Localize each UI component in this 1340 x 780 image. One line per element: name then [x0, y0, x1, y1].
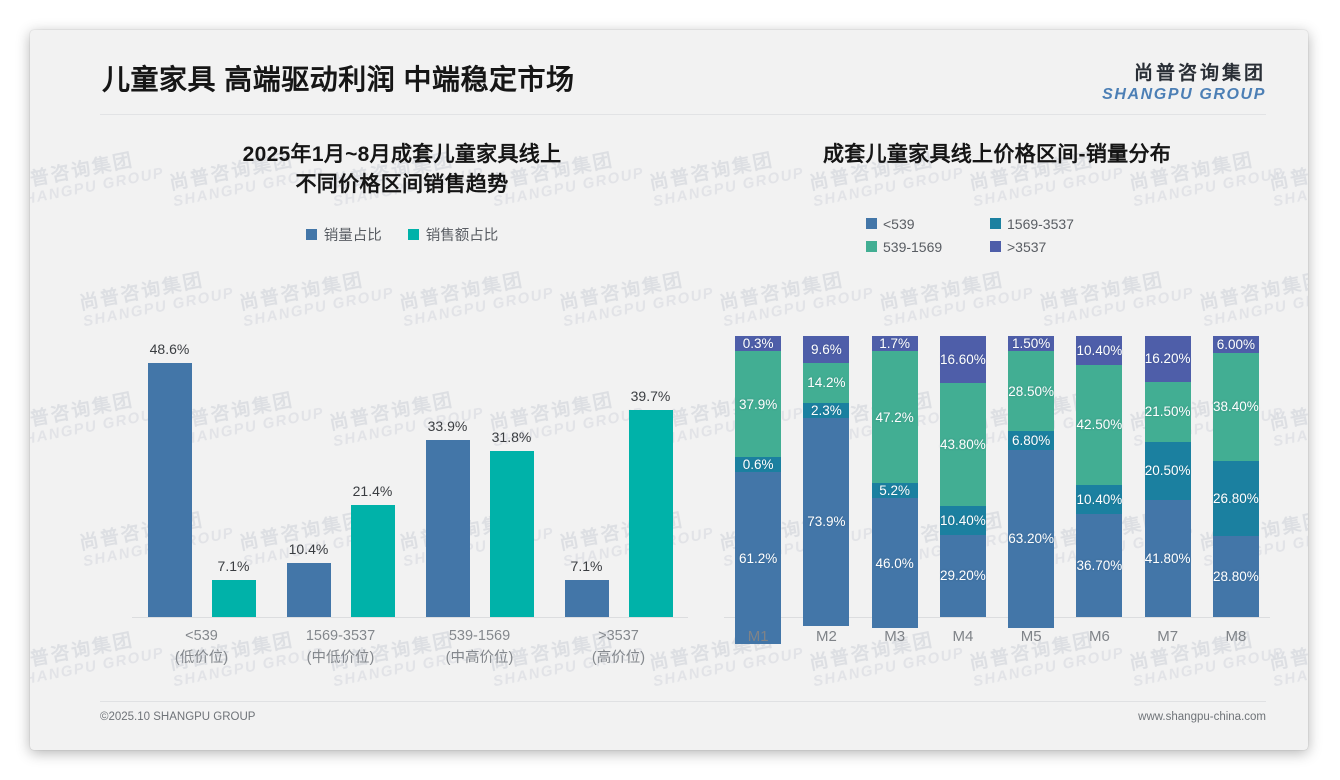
bar-group: 48.6%7.1%	[132, 330, 271, 617]
legend-swatch-icon	[306, 229, 317, 240]
stacked-bar[interactable]: 1.50%28.50%6.80%63.20%	[1008, 336, 1054, 617]
stacked-bar[interactable]: 16.60%43.80%10.40%29.20%	[940, 336, 986, 617]
x-tick-range: <539	[185, 628, 218, 644]
x-tick-tier: (高价位)	[549, 648, 688, 670]
stack-segment-mid-price-band[interactable]: 28.50%	[1008, 351, 1054, 431]
stacked-bar[interactable]: 10.40%42.50%10.40%36.70%	[1076, 336, 1122, 617]
legend-item-left-0[interactable]: 销量占比	[306, 224, 382, 245]
stack-segment-high-price-band[interactable]: 16.60%	[940, 336, 986, 383]
bar-volume-share[interactable]: 10.4%	[287, 563, 331, 617]
bar-value-label: 31.8%	[492, 429, 532, 445]
stack-segment-value-label: 0.3%	[743, 336, 774, 351]
left-chart-bar-groups: 48.6%7.1%10.4%21.4%33.9%31.8%7.1%39.7%	[132, 330, 688, 617]
x-tick-label-month: M1	[724, 620, 792, 670]
stack-segment-value-label: 41.80%	[1145, 551, 1191, 566]
slide-footer: ©2025.10 SHANGPU GROUP www.shangpu-china…	[100, 708, 1266, 732]
logo-text-cn: 尚普咨询集团	[1102, 58, 1266, 85]
bar-fill	[287, 563, 331, 617]
legend-item-right-2[interactable]: 539-1569	[866, 239, 990, 255]
stack-segment-mid-high-price-band[interactable]: 6.80%	[1008, 431, 1054, 450]
slide-header: 儿童家具 高端驱动利润 中端稳定市场 尚普咨询集团 SHANGPU GROUP	[30, 30, 1308, 116]
left-chart-panel: 2025年1月~8月成套儿童家具线上 不同价格区间销售趋势 销量占比销售额占比 …	[102, 140, 702, 720]
x-tick-tier: (中低价位)	[271, 648, 410, 670]
footer-website: www.shangpu-china.com	[1138, 711, 1266, 723]
stacked-bar[interactable]: 0.3%37.9%0.6%61.2%	[735, 336, 781, 617]
stack-segment-lowest-price-band[interactable]: 29.20%	[940, 535, 986, 617]
bar-sales-share[interactable]: 31.8%	[490, 451, 534, 617]
brand-logo: 尚普咨询集团 SHANGPU GROUP	[1102, 58, 1266, 104]
stack-segment-value-label: 9.6%	[811, 342, 842, 357]
slide-canvas: 尚普咨询集团SHANGPU GROUP尚普咨询集团SHANGPU GROUP尚普…	[30, 30, 1308, 750]
stack-segment-mid-high-price-band[interactable]: 0.6%	[735, 457, 781, 472]
legend-swatch-icon	[866, 241, 877, 252]
legend-item-right-1[interactable]: 1569-3537	[990, 216, 1128, 232]
legend-label: 销量占比	[324, 224, 382, 245]
left-chart-title-line2: 不同价格区间销售趋势	[102, 170, 702, 200]
bar-sales-share[interactable]: 39.7%	[629, 410, 673, 617]
stack-segment-mid-price-band[interactable]: 38.40%	[1213, 353, 1259, 461]
legend-swatch-icon	[990, 241, 1001, 252]
stack-segment-value-label: 47.2%	[875, 410, 913, 425]
bar-fill	[212, 580, 256, 617]
stack-segment-lowest-price-band[interactable]: 61.2%	[735, 472, 781, 644]
bar-value-label: 10.4%	[289, 541, 329, 557]
stack-segment-value-label: 73.9%	[807, 514, 845, 529]
x-tick-label-month: M2	[792, 620, 860, 670]
stack-segment-lowest-price-band[interactable]: 36.70%	[1076, 514, 1122, 617]
stack-segment-mid-price-band[interactable]: 37.9%	[735, 351, 781, 457]
stack-segment-mid-high-price-band[interactable]: 5.2%	[872, 483, 918, 498]
stack-segment-mid-price-band[interactable]: 47.2%	[872, 351, 918, 483]
right-chart-plot-area: 0.3%37.9%0.6%61.2%9.6%14.2%2.3%73.9%1.7%…	[716, 336, 1278, 670]
stack-segment-mid-high-price-band[interactable]: 10.40%	[940, 506, 986, 535]
bar-value-label: 7.1%	[571, 558, 603, 574]
legend-swatch-icon	[408, 229, 419, 240]
stack-segment-high-price-band[interactable]: 1.50%	[1008, 336, 1054, 351]
stack-segment-value-label: 29.20%	[940, 568, 986, 583]
bar-volume-share[interactable]: 7.1%	[565, 580, 609, 617]
x-tick-tier: (低价位)	[132, 648, 271, 670]
legend-label: >3537	[1007, 239, 1046, 255]
stacked-bar[interactable]: 16.20%21.50%20.50%41.80%	[1145, 336, 1191, 617]
left-chart-x-axis-line	[132, 617, 688, 618]
stacked-column: 1.7%47.2%5.2%46.0%	[861, 336, 929, 617]
stack-segment-value-label: 38.40%	[1213, 399, 1259, 414]
stack-segment-mid-price-band[interactable]: 21.50%	[1145, 382, 1191, 442]
x-tick-label-month: M7	[1134, 620, 1202, 670]
right-chart-stacked-columns: 0.3%37.9%0.6%61.2%9.6%14.2%2.3%73.9%1.7%…	[724, 336, 1270, 617]
legend-item-left-1[interactable]: 销售额占比	[408, 224, 499, 245]
stack-segment-value-label: 37.9%	[739, 397, 777, 412]
x-tick-range: 1569-3537	[306, 628, 375, 644]
logo-text-en: SHANGPU GROUP	[1102, 86, 1266, 104]
bar-fill	[148, 363, 192, 617]
left-chart-x-tick-labels: <539(低价位)1569-3537(中低价位)539-1569(中高价位)>3…	[132, 620, 688, 670]
x-tick-label: >3537(高价位)	[549, 620, 688, 670]
stack-segment-high-price-band[interactable]: 6.00%	[1213, 336, 1259, 353]
stack-segment-lowest-price-band[interactable]: 41.80%	[1145, 500, 1191, 617]
right-chart-legend: <5391569-3537539-1569>3537	[866, 216, 1128, 255]
bar-value-label: 48.6%	[150, 341, 190, 357]
bar-value-label: 39.7%	[631, 388, 671, 404]
left-chart-plot-area: 48.6%7.1%10.4%21.4%33.9%31.8%7.1%39.7% <…	[102, 330, 702, 670]
stacked-column: 16.60%43.80%10.40%29.20%	[929, 336, 997, 617]
stacked-column: 6.00%38.40%26.80%28.80%	[1202, 336, 1270, 617]
stacked-column: 9.6%14.2%2.3%73.9%	[792, 336, 860, 617]
stack-segment-value-label: 16.20%	[1145, 351, 1191, 366]
page-title: 儿童家具 高端驱动利润 中端稳定市场	[102, 58, 575, 98]
legend-item-right-0[interactable]: <539	[866, 216, 990, 232]
header-divider	[100, 114, 1266, 115]
stack-segment-value-label: 43.80%	[940, 437, 986, 452]
stack-segment-value-label: 10.40%	[1076, 343, 1122, 358]
stack-segment-value-label: 20.50%	[1145, 463, 1191, 478]
bar-volume-share[interactable]: 33.9%	[426, 440, 470, 617]
x-tick-label-month: M6	[1065, 620, 1133, 670]
stack-segment-mid-high-price-band[interactable]: 20.50%	[1145, 442, 1191, 500]
stacked-bar[interactable]: 6.00%38.40%26.80%28.80%	[1213, 336, 1259, 617]
footer-divider	[100, 701, 1266, 702]
stack-segment-value-label: 61.2%	[739, 551, 777, 566]
legend-label: 销售额占比	[426, 224, 499, 245]
stack-segment-value-label: 16.60%	[940, 352, 986, 367]
stack-segment-value-label: 5.2%	[879, 483, 910, 498]
stack-segment-lowest-price-band[interactable]: 46.0%	[872, 498, 918, 627]
stacked-column: 16.20%21.50%20.50%41.80%	[1134, 336, 1202, 617]
stacked-column: 0.3%37.9%0.6%61.2%	[724, 336, 792, 617]
x-tick-label: <539(低价位)	[132, 620, 271, 670]
legend-label: <539	[883, 216, 915, 232]
stack-segment-value-label: 63.20%	[1008, 531, 1054, 546]
stack-segment-value-label: 10.40%	[1076, 492, 1122, 507]
stack-segment-value-label: 0.6%	[743, 457, 774, 472]
right-chart-panel: 成套儿童家具线上价格区间-销量分布 <5391569-3537539-1569>…	[716, 140, 1278, 720]
left-chart-legend: 销量占比销售额占比	[102, 224, 702, 245]
stack-segment-mid-price-band[interactable]: 14.2%	[803, 363, 849, 403]
stack-segment-value-label: 1.50%	[1012, 336, 1050, 351]
stack-segment-value-label: 28.50%	[1008, 384, 1054, 399]
x-tick-label-month: M3	[861, 620, 929, 670]
stack-segment-value-label: 36.70%	[1076, 558, 1122, 573]
stack-segment-high-price-band[interactable]: 1.7%	[872, 336, 918, 351]
bar-volume-share[interactable]: 48.6%	[148, 363, 192, 617]
stack-segment-mid-price-band[interactable]: 42.50%	[1076, 365, 1122, 484]
legend-label: 1569-3537	[1007, 216, 1074, 232]
bar-fill	[351, 505, 395, 617]
bar-fill	[565, 580, 609, 617]
right-chart-x-tick-labels: M1M2M3M4M5M6M7M8	[724, 620, 1270, 670]
stack-segment-value-label: 21.50%	[1145, 404, 1191, 419]
right-chart-title: 成套儿童家具线上价格区间-销量分布	[716, 140, 1278, 170]
stack-segment-mid-high-price-band[interactable]: 10.40%	[1076, 485, 1122, 514]
stacked-bar[interactable]: 9.6%14.2%2.3%73.9%	[803, 336, 849, 617]
stack-segment-mid-price-band[interactable]: 43.80%	[940, 383, 986, 506]
x-tick-label: 539-1569(中高价位)	[410, 620, 549, 670]
x-tick-range: 539-1569	[449, 628, 510, 644]
stack-segment-value-label: 42.50%	[1076, 417, 1122, 432]
bar-fill	[490, 451, 534, 617]
left-chart-title-line1: 2025年1月~8月成套儿童家具线上	[102, 140, 702, 170]
bar-group: 33.9%31.8%	[410, 330, 549, 617]
stack-segment-value-label: 46.0%	[875, 556, 913, 571]
left-chart-title: 2025年1月~8月成套儿童家具线上 不同价格区间销售趋势	[102, 140, 702, 200]
stack-segment-value-label: 2.3%	[811, 403, 842, 418]
stack-segment-mid-high-price-band[interactable]: 2.3%	[803, 403, 849, 418]
bar-sales-share[interactable]: 21.4%	[351, 505, 395, 617]
bar-group: 7.1%39.7%	[549, 330, 688, 617]
stack-segment-value-label: 14.2%	[807, 375, 845, 390]
x-tick-tier: (中高价位)	[410, 648, 549, 670]
stack-segment-mid-high-price-band[interactable]: 26.80%	[1213, 461, 1259, 536]
bar-value-label: 7.1%	[218, 558, 250, 574]
stacked-column: 10.40%42.50%10.40%36.70%	[1065, 336, 1133, 617]
stack-segment-lowest-price-band[interactable]: 73.9%	[803, 418, 849, 626]
stack-segment-value-label: 28.80%	[1213, 569, 1259, 584]
x-tick-label-month: M4	[929, 620, 997, 670]
stack-segment-value-label: 1.7%	[879, 336, 910, 351]
bar-value-label: 33.9%	[428, 418, 468, 434]
stacked-column: 1.50%28.50%6.80%63.20%	[997, 336, 1065, 617]
bar-value-label: 21.4%	[353, 483, 393, 499]
footer-copyright: ©2025.10 SHANGPU GROUP	[100, 711, 255, 723]
legend-swatch-icon	[990, 218, 1001, 229]
legend-item-right-3[interactable]: >3537	[990, 239, 1128, 255]
stack-segment-value-label: 6.00%	[1217, 337, 1255, 352]
stack-segment-value-label: 26.80%	[1213, 491, 1259, 506]
stack-segment-high-price-band[interactable]: 16.20%	[1145, 336, 1191, 382]
stack-segment-value-label: 6.80%	[1012, 433, 1050, 448]
legend-swatch-icon	[866, 218, 877, 229]
bar-fill	[426, 440, 470, 617]
stack-segment-high-price-band[interactable]: 9.6%	[803, 336, 849, 363]
stack-segment-lowest-price-band[interactable]: 63.20%	[1008, 450, 1054, 628]
x-tick-label-month: M8	[1202, 620, 1270, 670]
stack-segment-value-label: 10.40%	[940, 513, 986, 528]
legend-label: 539-1569	[883, 239, 942, 255]
stacked-bar[interactable]: 1.7%47.2%5.2%46.0%	[872, 336, 918, 617]
stack-segment-lowest-price-band[interactable]: 28.80%	[1213, 536, 1259, 617]
bar-sales-share[interactable]: 7.1%	[212, 580, 256, 617]
x-tick-range: >3537	[598, 628, 639, 644]
bar-group: 10.4%21.4%	[271, 330, 410, 617]
x-tick-label-month: M5	[997, 620, 1065, 670]
stack-segment-high-price-band[interactable]: 10.40%	[1076, 336, 1122, 365]
stack-segment-high-price-band[interactable]: 0.3%	[735, 336, 781, 351]
bar-fill	[629, 410, 673, 617]
x-tick-label: 1569-3537(中低价位)	[271, 620, 410, 670]
